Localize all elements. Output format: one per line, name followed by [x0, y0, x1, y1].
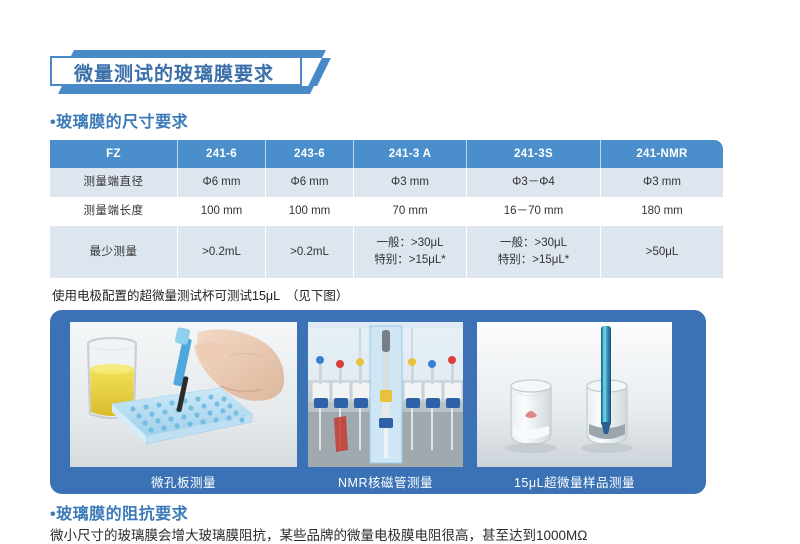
row-label-diameter: 测量端直径 [50, 168, 178, 197]
cell-minvol-241-3a: 一般：>30μL 特别：>15μL* [354, 226, 467, 278]
cell-length-243-6: 100 mm [266, 197, 354, 226]
table-footnote-caption: 使用电极配置的超微量测试杯可测试15μL （见下图） [52, 285, 348, 304]
cell-diameter-241-6: Φ6 mm [178, 168, 266, 197]
photo-micro-sample-cup-measurement [477, 322, 672, 467]
cell-minvol-241-3s: 一般：>30μL 特别：>15μL* [467, 226, 601, 278]
cell-length-241-3s: 16－70 mm [467, 197, 601, 226]
photo-caption-nmr: NMR核磁管测量 [308, 472, 463, 491]
table-row: 测量端长度 100 mm 100 mm 70 mm 16－70 mm 180 m… [50, 197, 723, 226]
table-row: 测量端直径 Φ6 mm Φ6 mm Φ3 mm Φ3－Φ4 Φ3 mm [50, 168, 723, 197]
photo-nmr-tube-measurement [308, 322, 463, 467]
microplate-photo-art [70, 322, 297, 467]
cell-diameter-241-nmr: Φ3 mm [601, 168, 724, 197]
cell-minvol-243-6: >0.2mL [266, 226, 354, 278]
table-col-header-241-6: 241-6 [178, 140, 266, 168]
cell-length-241-3a: 70 mm [354, 197, 467, 226]
nmr-photo-art [308, 322, 463, 467]
cell-minvol-241-nmr: >50μL [601, 226, 724, 278]
table-col-header-241-3a: 241-3 A [354, 140, 467, 168]
table-col-header-fz: FZ [50, 140, 178, 168]
table-header-row: FZ 241-6 243-6 241-3 A 241-3S 241-NMR [50, 140, 723, 168]
page-banner: 微量测试的玻璃膜要求 [50, 50, 350, 94]
cell-minvol-241-3s-line2: 特别：>15μL* [467, 252, 600, 269]
table-col-header-241-3s: 241-3S [467, 140, 601, 168]
banner-accent-bar-bottom [58, 86, 314, 94]
cell-diameter-243-6: Φ6 mm [266, 168, 354, 197]
glass-membrane-spec-table: FZ 241-6 243-6 241-3 A 241-3S 241-NMR 测量… [50, 140, 723, 278]
table-row: 最少测量 >0.2mL >0.2mL 一般：>30μL 特别：>15μL* 一般… [50, 226, 723, 278]
photo-microplate-measurement [70, 322, 297, 467]
table-col-header-243-6: 243-6 [266, 140, 354, 168]
section-heading-impedance: •玻璃膜的阻抗要求 [50, 500, 188, 524]
banner-accent-stripe [308, 58, 331, 86]
row-label-length: 测量端长度 [50, 197, 178, 226]
page-title: 微量测试的玻璃膜要求 [74, 59, 274, 86]
cell-length-241-6: 100 mm [178, 197, 266, 226]
table-col-header-241-nmr: 241-NMR [601, 140, 724, 168]
cell-minvol-241-6: >0.2mL [178, 226, 266, 278]
photo-caption-micro-cup: 15μL超微量样品测量 [477, 472, 672, 491]
cell-length-241-nmr: 180 mm [601, 197, 724, 226]
section-heading-size: •玻璃膜的尺寸要求 [50, 108, 188, 132]
micro-cup-photo-art [477, 322, 672, 467]
photo-gallery-panel: 微孔板测量 NMR核磁管测量 15μL超微量样品测量 [50, 310, 706, 494]
cell-minvol-241-3a-line1: 一般：>30μL [354, 235, 466, 252]
cell-diameter-241-3a: Φ3 mm [354, 168, 467, 197]
row-label-minimum-volume: 最少测量 [50, 226, 178, 278]
cell-minvol-241-3a-line2: 特别：>15μL* [354, 252, 466, 269]
photo-caption-microplate: 微孔板测量 [70, 472, 297, 491]
cell-diameter-241-3s: Φ3－Φ4 [467, 168, 601, 197]
impedance-body-paragraph: 微小尺寸的玻璃膜会增大玻璃膜阻抗，某些品牌的微量电极膜电阻很高，甚至达到1000… [50, 524, 780, 544]
cell-minvol-241-3s-line1: 一般：>30μL [467, 235, 600, 252]
